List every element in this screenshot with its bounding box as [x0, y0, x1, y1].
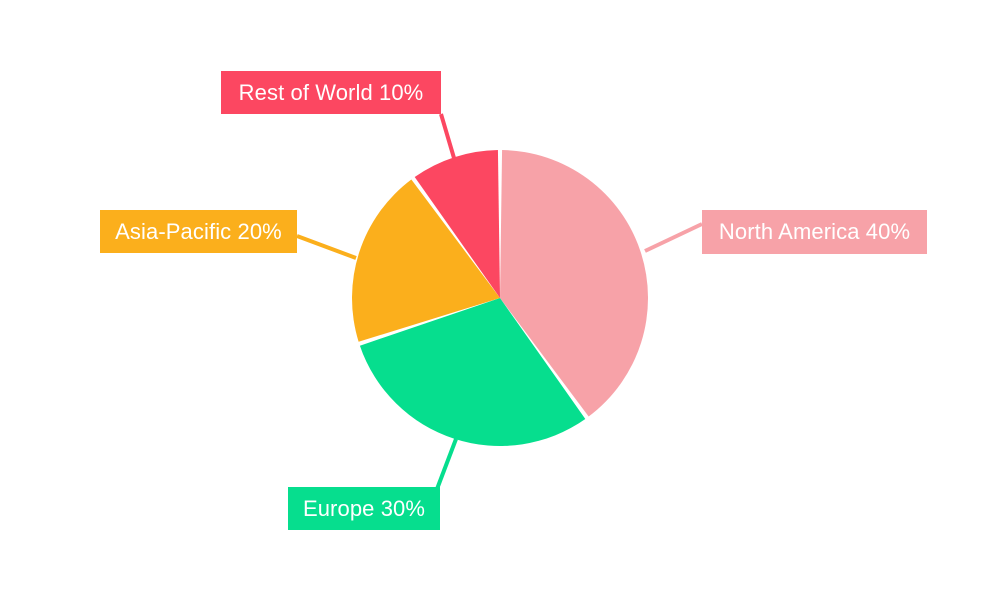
- pie-label-asia-pacific[interactable]: Asia-Pacific 20%: [100, 210, 297, 253]
- leader-line-north-america: [645, 224, 702, 251]
- pie-label-north-america[interactable]: North America 40%: [702, 210, 927, 254]
- pie-chart-figure: North America 40%Europe 30%Asia-Pacific …: [0, 0, 1000, 600]
- pie-slice-group: [352, 150, 648, 446]
- pie-label-europe[interactable]: Europe 30%: [288, 487, 440, 530]
- pie-chart-canvas: [0, 0, 1000, 600]
- pie-label-rest-of-world[interactable]: Rest of World 10%: [221, 71, 441, 114]
- leader-line-rest-of-world: [441, 114, 454, 158]
- leader-line-asia-pacific: [297, 236, 356, 258]
- leader-line-europe: [437, 439, 456, 489]
